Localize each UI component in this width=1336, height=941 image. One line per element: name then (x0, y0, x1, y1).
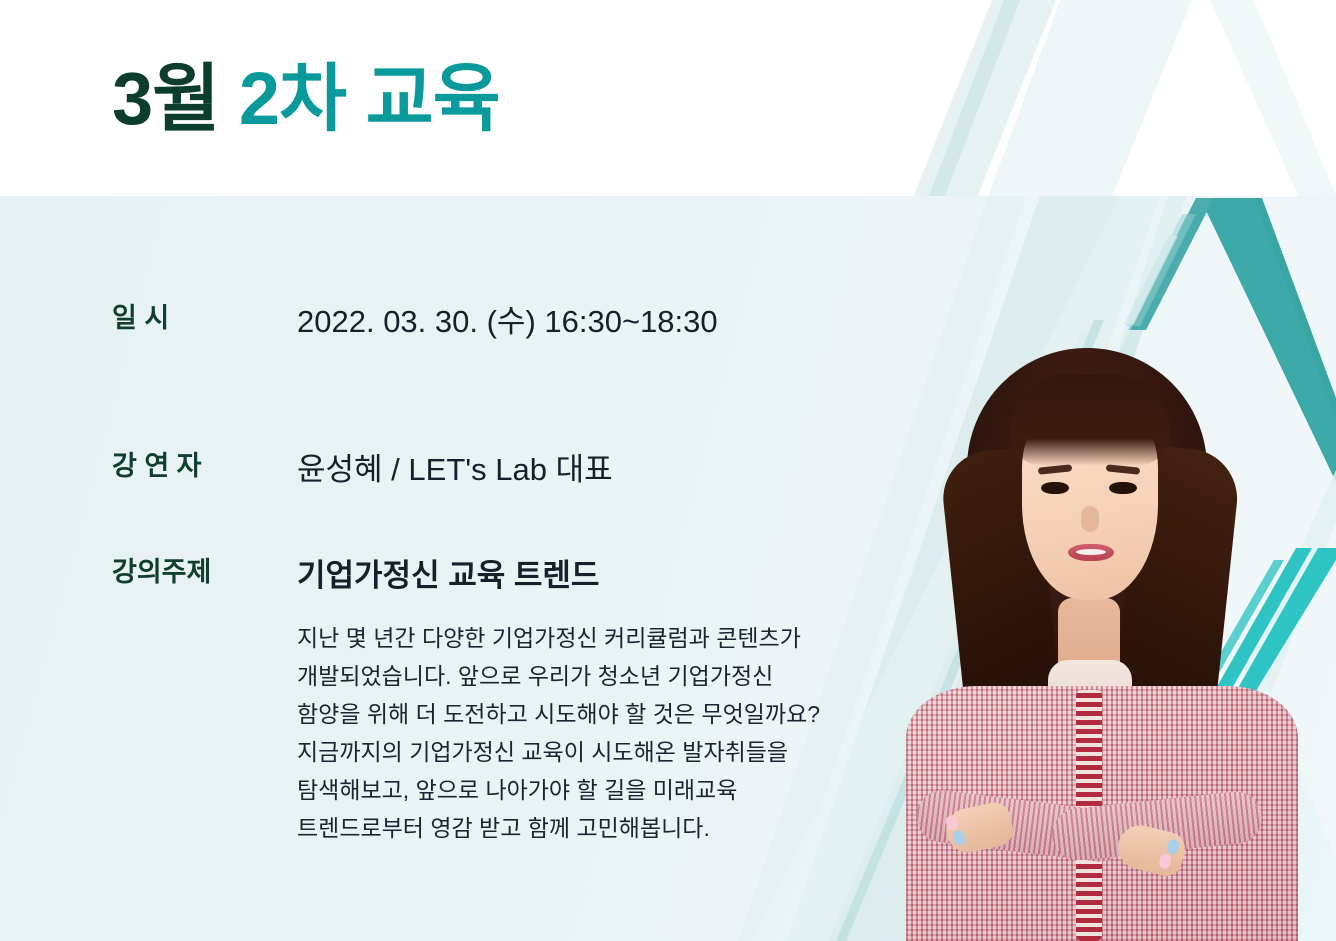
value-speaker: 윤성혜 / LET's Lab 대표 (297, 444, 872, 489)
description-line: 지난 몇 년간 다양한 기업가정신 커리큘럼과 콘텐츠가 (297, 619, 877, 657)
label-speaker: 강 연 자 (112, 444, 264, 483)
description-line: 개발되었습니다. 앞으로 우리가 청소년 기업가정신 (297, 657, 877, 695)
description-line: 함양을 위해 더 도전하고 시도해야 할 것은 무엇일까요? (297, 695, 877, 733)
speaker-portrait-photo (862, 330, 1336, 941)
title-session: 2차 교육 (239, 57, 500, 140)
description-line: 트렌드로부터 영감 받고 함께 고민해봅니다. (297, 809, 877, 847)
description-line: 탐색해보고, 앞으로 나아가야 할 길을 미래교육 (297, 771, 877, 809)
topic-description: 지난 몇 년간 다양한 기업가정신 커리큘럼과 콘텐츠가 개발되었습니다. 앞으… (297, 619, 877, 847)
label-datetime: 일 시 (112, 296, 264, 335)
info-row-datetime: 일 시 2022. 03. 30. (수) 16:30~18:30 (112, 296, 872, 444)
portrait-edge-blend (862, 330, 1336, 941)
info-row-topic: 강의주제 기업가정신 교육 트렌드 지난 몇 년간 다양한 기업가정신 커리큘럼… (112, 550, 872, 847)
value-topic: 기업가정신 교육 트렌드 (297, 550, 872, 595)
value-datetime: 2022. 03. 30. (수) 16:30~18:30 (297, 296, 872, 341)
description-line: 지금까지의 기업가정신 교육이 시도해온 발자취들을 (297, 733, 877, 771)
label-topic: 강의주제 (112, 550, 264, 589)
page-title: 3월 2차 교육 (112, 62, 500, 136)
poster-canvas: 3월 2차 교육 일 시 2022. 03. 30. (수) 16:30~18:… (0, 0, 1336, 941)
info-rows: 일 시 2022. 03. 30. (수) 16:30~18:30 강 연 자 … (112, 296, 872, 847)
info-row-speaker: 강 연 자 윤성혜 / LET's Lab 대표 (112, 444, 872, 550)
title-month: 3월 (112, 57, 219, 140)
